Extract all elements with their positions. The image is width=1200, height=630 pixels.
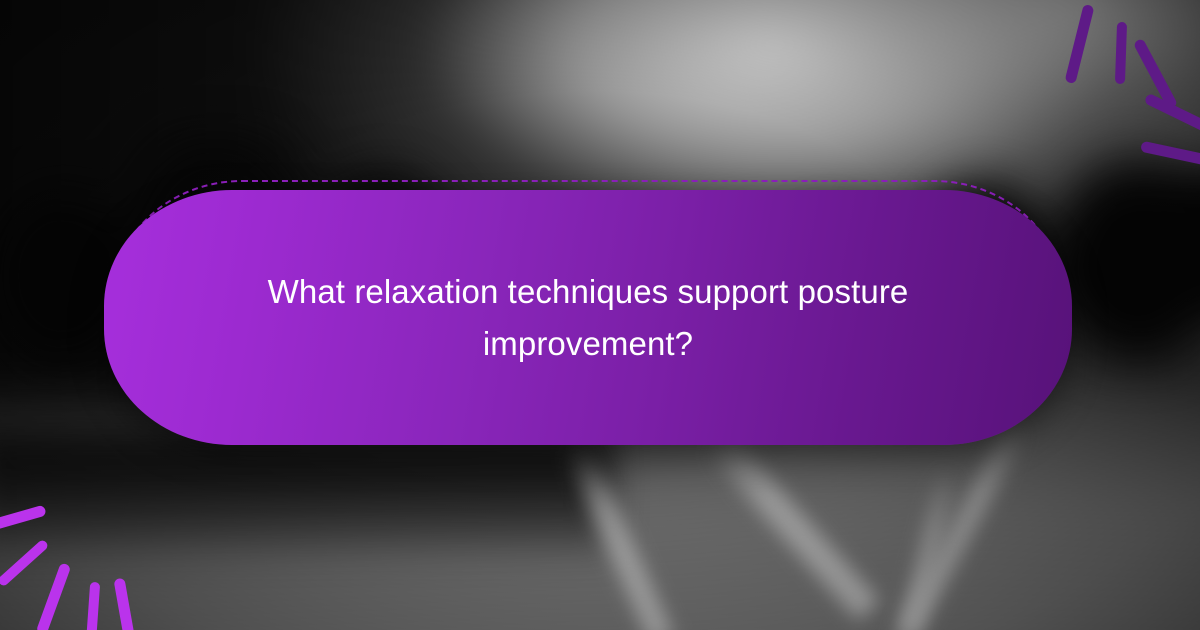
sparkle-ray-icon [0,505,47,534]
question-text: What relaxation techniques support postu… [193,266,983,370]
sparkle-ray-icon [113,578,137,630]
sparkle-burst-bottom-left-icon [6,468,166,630]
sparkle-ray-icon [1064,4,1094,84]
question-card[interactable]: What relaxation techniques support postu… [104,190,1072,445]
sparkle-ray-icon [0,539,49,588]
sparkle-ray-icon [1140,141,1200,165]
sparkle-ray-icon [86,582,100,630]
sparkle-burst-top-right-icon [1040,0,1200,200]
sparkle-ray-icon [1115,22,1127,84]
social-card-canvas: What relaxation techniques support postu… [0,0,1200,630]
sparkle-ray-icon [36,562,72,630]
